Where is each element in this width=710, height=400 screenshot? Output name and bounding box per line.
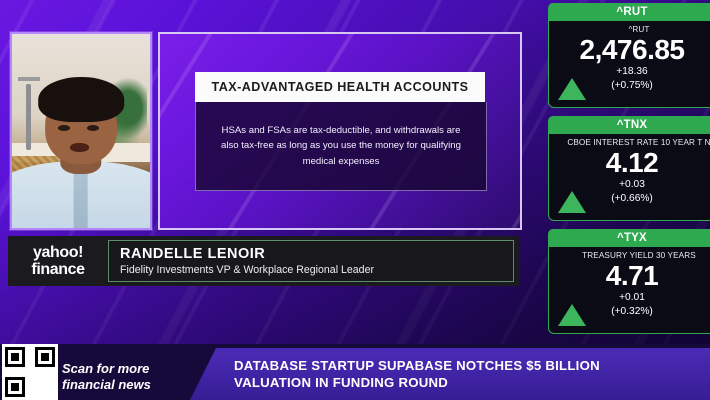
news-headline: DATABASE STARTUP SUPABASE NOTCHES $5 BIL… <box>190 357 608 391</box>
ticker-price: 2,476.85 <box>549 35 710 65</box>
slide-body-text: HSAs and FSAs are tax-deductible, and wi… <box>215 123 467 170</box>
ticker-body: TREASURY YIELD 30 YEARS 4.71 +0.01 (+0.3… <box>548 247 710 334</box>
slide-title-text: TAX-ADVANTAGED HEALTH ACCOUNTS <box>212 80 469 94</box>
ticker-body: CBOE INTEREST RATE 10 YEAR T N 4.12 +0.0… <box>548 134 710 221</box>
slide-body-panel: HSAs and FSAs are tax-deductible, and wi… <box>195 102 487 191</box>
ticker-symbol-header: ^RUT <box>548 3 710 21</box>
scan-prompt: Scan for more financial news <box>62 361 182 394</box>
guest-figure <box>12 77 150 228</box>
bottom-news-bar: Scan for more financial news DATABASE ST… <box>0 344 710 400</box>
triangle-up-icon <box>558 78 586 100</box>
ticker-body: ^RUT 2,476.85 +18.36 (+0.75%) <box>548 21 710 108</box>
scan-prompt-line2: financial news <box>62 377 182 394</box>
guest-identification-box: RANDELLE LENOIR Fidelity Investments VP … <box>108 240 514 282</box>
guest-video-tile[interactable] <box>10 32 152 230</box>
news-headline-line1: DATABASE STARTUP SUPABASE NOTCHES $5 BIL… <box>234 358 600 373</box>
guest-name: RANDELLE LENOIR <box>120 246 513 262</box>
lower-third-banner: yahoo! finance RANDELLE LENOIR Fidelity … <box>8 236 520 286</box>
guest-title: Fidelity Investments VP & Workplace Regi… <box>120 264 513 276</box>
slide-title-bar: TAX-ADVANTAGED HEALTH ACCOUNTS <box>195 72 485 102</box>
news-headline-line2: VALUATION IN FUNDING ROUND <box>234 374 600 391</box>
qr-finder-bottom-left <box>5 377 25 397</box>
qr-finder-top-right <box>35 347 55 367</box>
market-ticker-column: ^RUT ^RUT 2,476.85 +18.36 (+0.75%) ^TNX … <box>548 3 710 342</box>
ticker-symbol-header: ^TNX <box>548 116 710 134</box>
yahoo-finance-logo: yahoo! finance <box>8 245 108 278</box>
ticker-symbol-header: ^TYX <box>548 229 710 247</box>
triangle-up-icon <box>558 304 586 326</box>
presentation-slide: TAX-ADVANTAGED HEALTH ACCOUNTS HSAs and … <box>158 32 522 230</box>
ticker-price: 4.12 <box>549 148 710 178</box>
qr-finder-top-left <box>5 347 25 367</box>
ticker-name: ^RUT <box>549 25 710 34</box>
ticker-name: TREASURY YIELD 30 YEARS <box>549 251 710 260</box>
guest-mouth <box>70 143 89 152</box>
ticker-card-tnx[interactable]: ^TNX CBOE INTEREST RATE 10 YEAR T N 4.12… <box>548 116 710 221</box>
ticker-name: CBOE INTEREST RATE 10 YEAR T N <box>549 138 710 147</box>
news-headline-panel[interactable]: DATABASE STARTUP SUPABASE NOTCHES $5 BIL… <box>190 348 710 400</box>
logo-line-finance: finance <box>31 262 84 278</box>
logo-line-yahoo: yahoo! <box>33 245 83 261</box>
ticker-price: 4.71 <box>549 261 710 291</box>
broadcast-screen: TAX-ADVANTAGED HEALTH ACCOUNTS HSAs and … <box>0 0 710 400</box>
triangle-up-icon <box>558 191 586 213</box>
scan-prompt-line1: Scan for more <box>62 361 182 378</box>
qr-code-icon[interactable] <box>2 344 58 400</box>
ticker-card-tyx[interactable]: ^TYX TREASURY YIELD 30 YEARS 4.71 +0.01 … <box>548 229 710 334</box>
ticker-card-rut[interactable]: ^RUT ^RUT 2,476.85 +18.36 (+0.75%) <box>548 3 710 108</box>
